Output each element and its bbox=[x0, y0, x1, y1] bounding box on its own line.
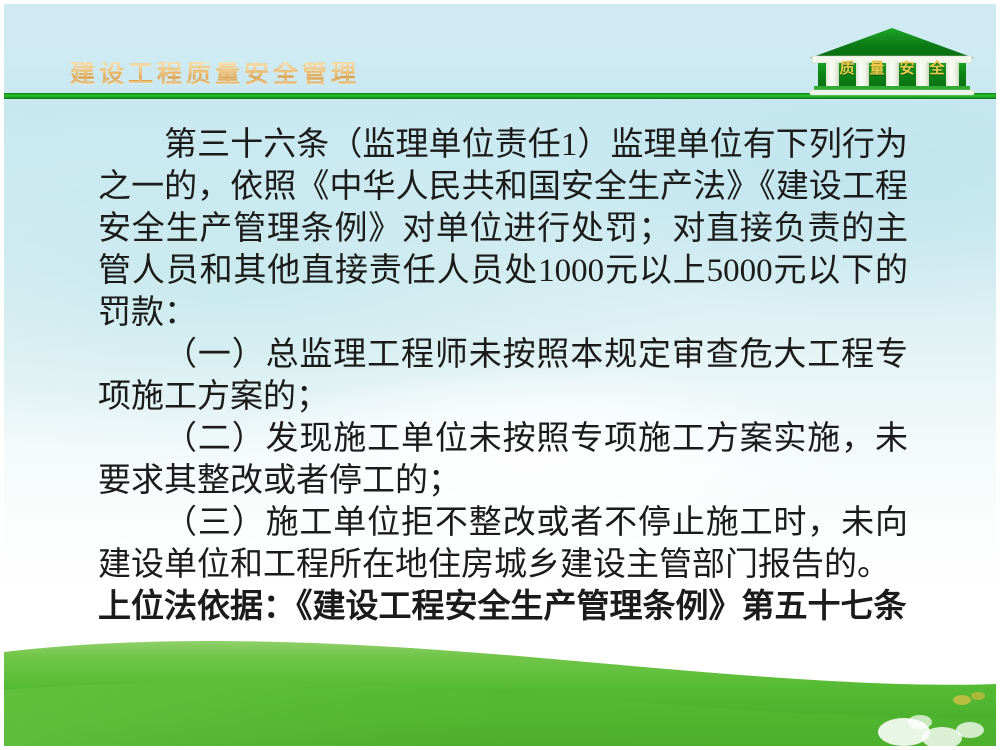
paragraph-legal-basis: 上位法依据：《建设工程安全生产管理条例》第五十七条 bbox=[98, 586, 908, 628]
quality-safety-temple-logo: 质 量 安 全 bbox=[806, 26, 978, 98]
paragraph-article-36-intro: 第三十六条（监理单位责任1）监理单位有下列行为之一的，依照《中华人民共和国安全生… bbox=[98, 124, 908, 334]
paragraph-item-two: （二）发现施工单位未按照专项施工方案实施，未要求其整改或者停工的； bbox=[98, 418, 908, 502]
page-title: 建设工程质量安全管理 bbox=[70, 62, 360, 87]
grass-hill-decoration bbox=[4, 626, 996, 746]
presentation-slide: 建设工程质量安全管理 bbox=[0, 0, 1000, 750]
paragraph-item-one: （一）总监理工程师未按照本规定审查危大工程专项施工方案的； bbox=[98, 334, 908, 418]
slide-body-text: 第三十六条（监理单位责任1）监理单位有下列行为之一的，依照《中华人民共和国安全生… bbox=[98, 124, 908, 628]
paragraph-item-three: （三）施工单位拒不整改或者不停止施工时，未向建设单位和工程所在地住房城乡建设主管… bbox=[98, 502, 908, 586]
